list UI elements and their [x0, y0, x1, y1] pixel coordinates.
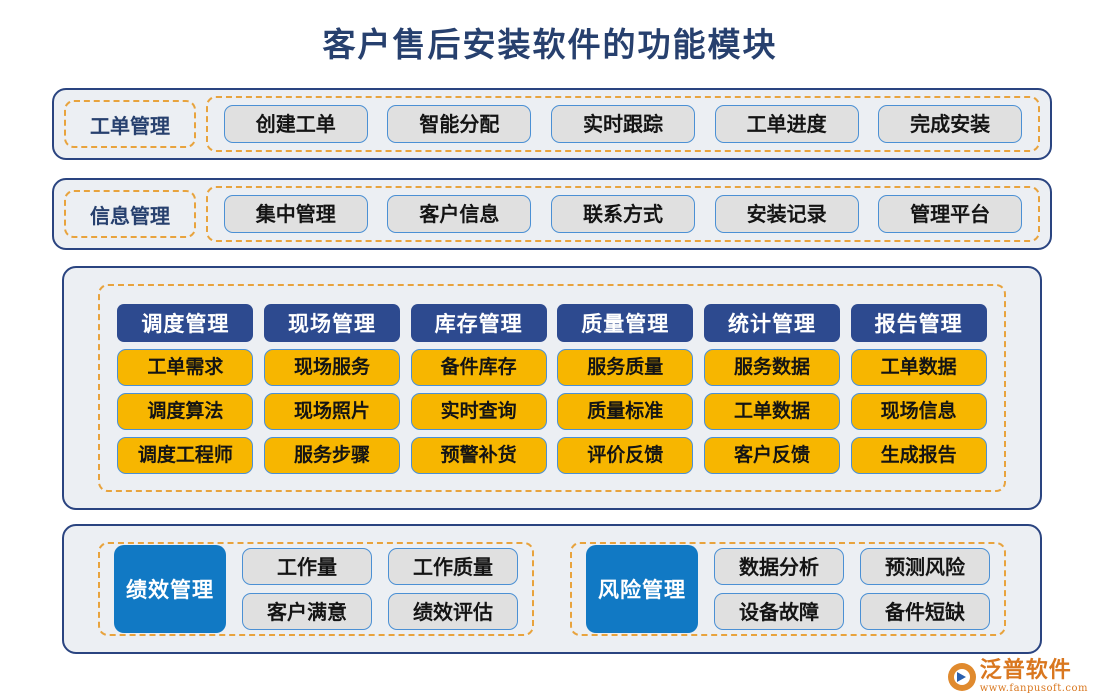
column-item-work-order-demand[interactable]: 工单需求 [117, 349, 253, 386]
item-centralized-management[interactable]: 集中管理 [224, 195, 368, 233]
row-label-information[interactable]: 信息管理 [64, 190, 196, 238]
section-work-order-management: 工单管理 创建工单 智能分配 实时跟踪 工单进度 完成安装 [52, 88, 1052, 160]
column-item-customer-feedback[interactable]: 客户反馈 [704, 437, 840, 474]
item-workload[interactable]: 工作量 [242, 548, 372, 585]
column-quality-management: 质量管理 服务质量 质量标准 评价反馈 [557, 304, 693, 474]
column-item-spare-parts-stock[interactable]: 备件库存 [411, 349, 547, 386]
column-onsite-management: 现场管理 现场服务 现场照片 服务步骤 [264, 304, 400, 474]
column-item-quality-standard[interactable]: 质量标准 [557, 393, 693, 430]
row-content: 信息管理 集中管理 客户信息 联系方式 安装记录 管理平台 [54, 180, 1050, 248]
column-item-service-data[interactable]: 服务数据 [704, 349, 840, 386]
column-inventory-management: 库存管理 备件库存 实时查询 预警补货 [411, 304, 547, 474]
company-logo-text: 泛普软件 www.fanpusoft.com [980, 659, 1088, 694]
diagram-canvas: 泛普软件 FANPU SOFTWARE 客户售后安装软件的功能模块 工单管理 创… [0, 0, 1100, 700]
column-dispatch-management: 调度管理 工单需求 调度算法 调度工程师 [117, 304, 253, 474]
item-customer-satisfaction[interactable]: 客户满意 [242, 593, 372, 630]
column-item-dispatch-engineer[interactable]: 调度工程师 [117, 437, 253, 474]
column-item-work-order-data-report[interactable]: 工单数据 [851, 349, 987, 386]
section-module-columns: 调度管理 工单需求 调度算法 调度工程师 现场管理 现场服务 现场照片 服务步骤… [62, 266, 1042, 510]
item-customer-information[interactable]: 客户信息 [387, 195, 531, 233]
column-header-report[interactable]: 报告管理 [851, 304, 987, 342]
row-label-work-order[interactable]: 工单管理 [64, 100, 196, 148]
section-information-management: 信息管理 集中管理 客户信息 联系方式 安装记录 管理平台 [52, 178, 1052, 250]
item-equipment-failure[interactable]: 设备故障 [714, 593, 844, 630]
item-realtime-tracking[interactable]: 实时跟踪 [551, 105, 695, 143]
item-create-work-order[interactable]: 创建工单 [224, 105, 368, 143]
item-smart-dispatch[interactable]: 智能分配 [387, 105, 531, 143]
column-header-inventory[interactable]: 库存管理 [411, 304, 547, 342]
item-complete-install[interactable]: 完成安装 [878, 105, 1022, 143]
item-spare-parts-shortage[interactable]: 备件短缺 [860, 593, 990, 630]
item-install-record[interactable]: 安装记录 [715, 195, 859, 233]
row-content: 工单管理 创建工单 智能分配 实时跟踪 工单进度 完成安装 [54, 90, 1050, 158]
column-header-quality[interactable]: 质量管理 [557, 304, 693, 342]
group-items-performance: 工作量 工作质量 客户满意 绩效评估 [242, 548, 518, 630]
column-statistics-management: 统计管理 服务数据 工单数据 客户反馈 [704, 304, 840, 474]
item-management-platform[interactable]: 管理平台 [878, 195, 1022, 233]
company-website: www.fanpusoft.com [980, 684, 1088, 694]
group-title-performance[interactable]: 绩效管理 [114, 545, 226, 633]
row-items-information: 集中管理 客户信息 联系方式 安装记录 管理平台 [206, 186, 1040, 242]
fanpu-logo-icon [948, 663, 976, 691]
column-report-management: 报告管理 工单数据 现场信息 生成报告 [851, 304, 987, 474]
module-columns-container: 调度管理 工单需求 调度算法 调度工程师 现场管理 现场服务 现场照片 服务步骤… [98, 284, 1006, 492]
group-title-risk[interactable]: 风险管理 [586, 545, 698, 633]
item-work-order-progress[interactable]: 工单进度 [715, 105, 859, 143]
column-item-onsite-photo[interactable]: 现场照片 [264, 393, 400, 430]
item-contact-method[interactable]: 联系方式 [551, 195, 695, 233]
column-item-generate-report[interactable]: 生成报告 [851, 437, 987, 474]
company-logo: 泛普软件 www.fanpusoft.com [948, 659, 1088, 694]
column-item-service-steps[interactable]: 服务步骤 [264, 437, 400, 474]
column-item-onsite-information[interactable]: 现场信息 [851, 393, 987, 430]
company-name: 泛普软件 [980, 659, 1088, 681]
item-work-quality[interactable]: 工作质量 [388, 548, 518, 585]
row-items-work-order: 创建工单 智能分配 实时跟踪 工单进度 完成安装 [206, 96, 1040, 152]
column-item-dispatch-algorithm[interactable]: 调度算法 [117, 393, 253, 430]
column-header-onsite[interactable]: 现场管理 [264, 304, 400, 342]
column-item-realtime-query[interactable]: 实时查询 [411, 393, 547, 430]
column-item-restock-alert[interactable]: 预警补货 [411, 437, 547, 474]
section-performance-and-risk: 绩效管理 工作量 工作质量 客户满意 绩效评估 风险管理 数据分析 预测风险 设… [62, 524, 1042, 654]
item-risk-prediction[interactable]: 预测风险 [860, 548, 990, 585]
column-item-onsite-service[interactable]: 现场服务 [264, 349, 400, 386]
column-item-service-quality[interactable]: 服务质量 [557, 349, 693, 386]
column-header-statistics[interactable]: 统计管理 [704, 304, 840, 342]
group-items-risk: 数据分析 预测风险 设备故障 备件短缺 [714, 548, 990, 630]
group-risk-management: 风险管理 数据分析 预测风险 设备故障 备件短缺 [570, 542, 1006, 636]
item-performance-evaluation[interactable]: 绩效评估 [388, 593, 518, 630]
item-data-analysis[interactable]: 数据分析 [714, 548, 844, 585]
column-item-evaluation-feedback[interactable]: 评价反馈 [557, 437, 693, 474]
page-title: 客户售后安装软件的功能模块 [0, 18, 1100, 66]
group-performance-management: 绩效管理 工作量 工作质量 客户满意 绩效评估 [98, 542, 534, 636]
column-header-dispatch[interactable]: 调度管理 [117, 304, 253, 342]
column-item-work-order-data[interactable]: 工单数据 [704, 393, 840, 430]
